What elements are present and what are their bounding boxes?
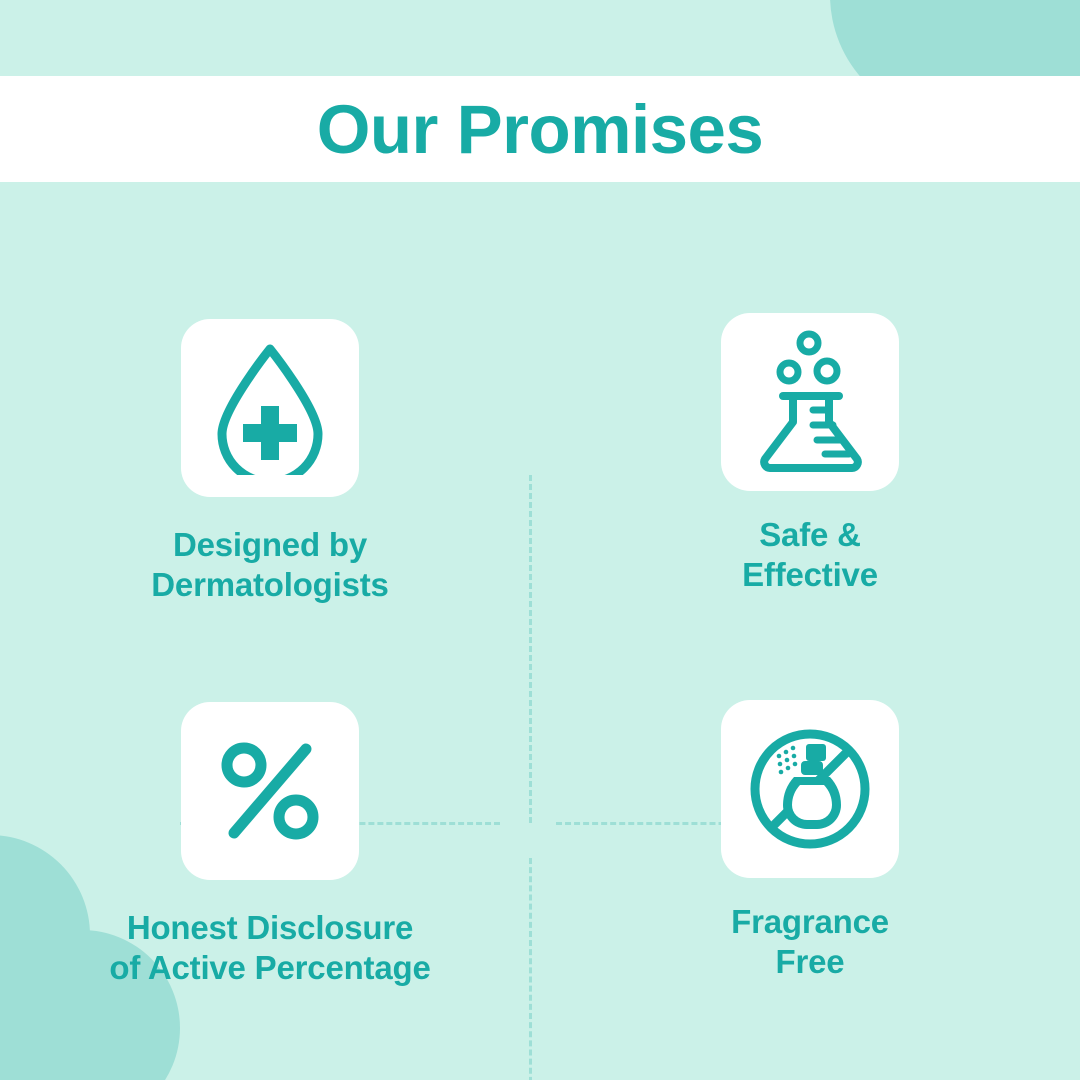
promise-item-honest-disclosure: Honest Disclosure of Active Percentage bbox=[0, 631, 540, 1080]
promises-infographic: Our Promises Designed by Dermatologists bbox=[0, 0, 1080, 1080]
icon-card-fragrance-free bbox=[721, 700, 899, 878]
percent-icon bbox=[218, 739, 322, 843]
promise-label: Safe & Effective bbox=[742, 515, 878, 596]
decorative-rect-top-right bbox=[988, 0, 1080, 76]
water-drop-plus-icon bbox=[208, 341, 332, 475]
page-title: Our Promises bbox=[317, 95, 764, 164]
promise-item-fragrance-free: Fragrance Free bbox=[540, 631, 1080, 1080]
icon-card-safe-and-effective bbox=[721, 313, 899, 491]
no-fragrance-icon bbox=[746, 725, 874, 853]
icon-card-honest-disclosure bbox=[181, 702, 359, 880]
promise-label: Designed by Dermatologists bbox=[151, 525, 388, 606]
promise-item-safe-and-effective: Safe & Effective bbox=[540, 182, 1080, 631]
lab-flask-icon bbox=[751, 330, 869, 474]
promise-label: Fragrance Free bbox=[731, 902, 889, 983]
promise-item-designed-by-dermatologists: Designed by Dermatologists bbox=[0, 182, 540, 631]
header-band: Our Promises bbox=[0, 76, 1080, 182]
icon-card-designed-by-dermatologists bbox=[181, 319, 359, 497]
promises-grid: Designed by Dermatologists bbox=[0, 182, 1080, 1080]
promise-label: Honest Disclosure of Active Percentage bbox=[109, 908, 430, 989]
